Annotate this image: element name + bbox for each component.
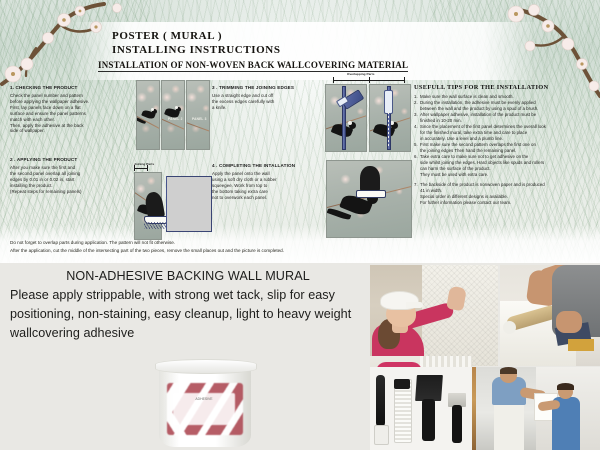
step-3-block: 3 . TRIMMING THE JOINING EDGES Use a str…	[212, 85, 324, 111]
tip-item: 7. The backside of the product is nonwov…	[414, 182, 596, 206]
step-2-title: 2 . APPLYING THE PRODUCT	[10, 157, 130, 163]
wall-edge-line	[166, 176, 167, 230]
tip-text: Take extra care to make sure not to get …	[420, 154, 544, 178]
step-3-title: 3 . TRIMMING THE JOINING EDGES	[212, 85, 324, 91]
panel-3-image: PANEL 3	[186, 80, 210, 150]
wall-surface-box	[166, 176, 212, 232]
adhesive-bucket-photo: ADHESIVE	[153, 357, 257, 450]
sheet-footnotes: Do not forget to overlap parts during ap…	[10, 239, 284, 255]
overlap-dim-tick-left	[333, 77, 334, 83]
illustration-applying-panel: Joining Parts	[134, 162, 212, 240]
illustration-trimming-edges: Overlapping Parts	[325, 72, 413, 150]
promo-line-3: wallcovering adhesive	[10, 324, 366, 343]
panel-2-label: PANEL 2	[168, 117, 183, 121]
illustration-completing-installation	[326, 160, 412, 238]
tip-text: The backside of the product is nonwoven …	[420, 182, 545, 206]
bucket-label-text: ADHESIVE	[177, 397, 231, 402]
illustration-three-panels: PANEL 2 PANEL 3	[136, 80, 210, 152]
tip-text: During the installation, the adhesive mu…	[420, 100, 538, 112]
utility-knife-blade-right	[384, 90, 393, 114]
poster-title-line-2: INSTALLING INSTRUCTIONS	[112, 43, 281, 57]
panel-1-image	[136, 80, 160, 150]
promo-line-1: Please apply strippable, with strong wet…	[10, 286, 366, 305]
poster-title-line-1: POSTER ( MURAL )	[112, 29, 281, 43]
tip-text: Since the placement of the first panel d…	[420, 124, 546, 142]
useful-tips-block: USEFULL TIPS FOR THE INSTALLATION 1. Mak…	[414, 84, 596, 206]
boy-hair	[557, 383, 574, 390]
poster-subtitle: INSTALLATION OF NON-WOVEN BACK WALLCOVER…	[98, 60, 408, 72]
step-4-block: 4 . COMPLETING THE INTALLATION Apply the…	[212, 163, 326, 201]
panel-3-label: PANEL 3	[192, 117, 207, 121]
poster-instruction-sheet: POSTER ( MURAL ) INSTALLING INSTRUCTIONS…	[0, 0, 600, 450]
wide-scraper-blade-icon	[415, 375, 443, 401]
instruction-sheet-panel: POSTER ( MURAL ) INSTALLING INSTRUCTIONS…	[0, 0, 600, 263]
tip-item: 2. During the installation, the adhesive…	[414, 100, 596, 112]
promo-text-block: NON-ADHESIVE BACKING WALL MURAL Please a…	[10, 269, 366, 343]
overlap-dim-tick-right	[404, 77, 405, 83]
step-1-title: 1. CHECKING THE PRODUCT	[10, 85, 130, 91]
useful-tips-title: USEFULL TIPS FOR THE INSTALLATION	[414, 84, 596, 91]
cut-line-dotted-right	[388, 112, 389, 148]
poster-title-block: POSTER ( MURAL ) INSTALLING INSTRUCTIONS	[112, 29, 281, 57]
man-hair	[500, 367, 517, 374]
man-and-boy-hanging-wallpaper-photo	[476, 367, 600, 450]
joining-dim-tick-left	[134, 165, 135, 171]
sheet-footnote-2: After the application, cut the middle of…	[10, 247, 284, 255]
step-2-block: 2 . APPLYING THE PRODUCT After you make …	[10, 157, 130, 195]
tip-text: After wallpaper adhesive, installation o…	[420, 112, 536, 124]
step-3-body: Use a straight edge and cut off the exce…	[212, 93, 324, 111]
step-1-body: Check the panel number and pattern befor…	[10, 93, 130, 134]
tip-item: 6. Take extra care to make sure not to g…	[414, 154, 596, 178]
wallpaper-tools-flatlay-photo	[370, 367, 472, 450]
panel-2-image: PANEL 2	[161, 80, 185, 150]
wide-scraper-handle-icon	[422, 399, 435, 441]
seam-roller-handle-icon	[376, 375, 385, 427]
woman-cap-brim	[406, 302, 423, 308]
tip-item: 3. After wallpaper adhesive, installatio…	[414, 112, 596, 124]
man-trousers	[494, 403, 524, 450]
tip-text: First make sure the second pattern overl…	[420, 142, 536, 154]
roller-handle	[503, 321, 516, 334]
step-1-block: 1. CHECKING THE PRODUCT Check the panel …	[10, 85, 130, 134]
step-4-body: Apply the panel onto the wall using a so…	[212, 171, 326, 201]
seam-roller-head-icon	[374, 425, 389, 445]
hand-right	[556, 311, 582, 333]
joining-dim-line	[134, 168, 148, 169]
overlap-dim-tick-mid	[369, 77, 370, 83]
step-2-body: After you make sure the first and the se…	[10, 165, 130, 195]
promo-line-2: positioning, non-staining, easy cleanup,…	[10, 305, 366, 324]
cloth-squeegee-icon	[360, 166, 380, 192]
tip-item: 4. Since the placement of the first pane…	[414, 124, 596, 142]
overlapping-parts-label: Overlapping Parts	[347, 72, 375, 76]
bucket-lid	[155, 359, 257, 374]
tool-accessory	[568, 339, 594, 351]
smoothing-brush-grip-icon	[394, 379, 410, 389]
joining-parts-label: Joining Parts	[134, 162, 154, 166]
woman-smoothing-wallpaper-photo	[370, 265, 498, 366]
hands-with-paste-roller-photo	[500, 265, 600, 366]
putty-knife-handle-icon	[452, 405, 462, 443]
sheet-footnote-1: Do not forget to overlap parts during ap…	[10, 239, 284, 247]
joining-dim-tick-right	[147, 165, 148, 171]
tip-item: 5. First make sure the second pattern ov…	[414, 142, 596, 154]
step-4-title: 4 . COMPLETING THE INTALLATION	[212, 163, 326, 169]
cloth-squeegee-blade	[356, 190, 386, 198]
promo-heading: NON-ADHESIVE BACKING WALL MURAL	[10, 269, 366, 283]
